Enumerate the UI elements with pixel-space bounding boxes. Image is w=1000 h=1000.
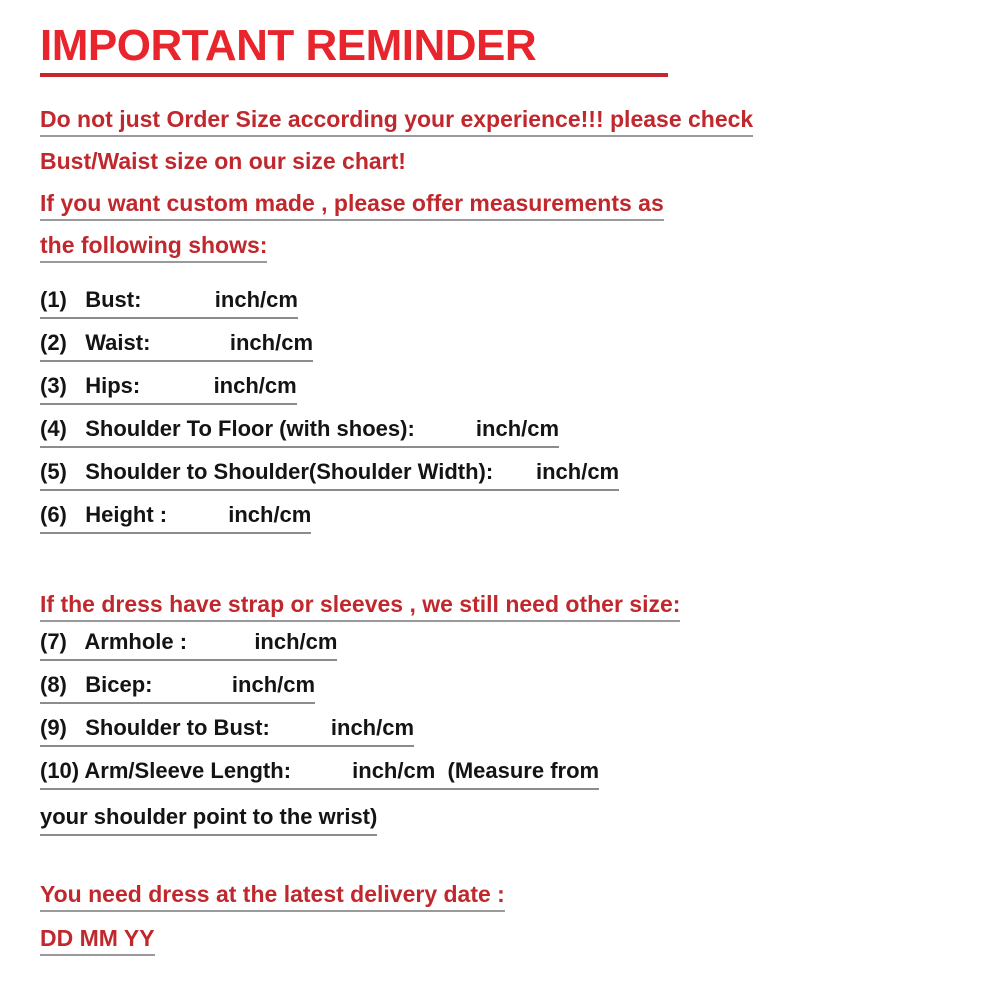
measurement-list-primary: (1) Bust: inch/cm (2) Waist: inch/cm (3)… — [40, 278, 970, 536]
measurement-item-8: (8) Bicep: inch/cm — [40, 663, 970, 706]
intro-line-3-text: If you want custom made , please offer m… — [40, 188, 664, 221]
intro-line-3: If you want custom made , please offer m… — [40, 182, 960, 224]
measurement-item-9-text: (9) Shoulder to Bust: inch/cm — [40, 713, 414, 747]
measurement-item-4-text: (4) Shoulder To Floor (with shoes): inch… — [40, 414, 559, 448]
page-title-block: IMPORTANT REMINDER — [40, 22, 940, 77]
intro-line-4: the following shows: — [40, 224, 960, 266]
measurement-item-5: (5) Shoulder to Shoulder(Shoulder Width)… — [40, 450, 970, 493]
delivery-prompt-line: You need dress at the latest delivery da… — [40, 872, 960, 916]
continuation-line: your shoulder point to the wrist) — [40, 795, 960, 838]
subhead-line: If the dress have strap or sleeves , we … — [40, 583, 960, 625]
measurement-item-1: (1) Bust: inch/cm — [40, 278, 970, 321]
measurement-item-7-text: (7) Armhole : inch/cm — [40, 627, 337, 661]
page-title: IMPORTANT REMINDER — [40, 22, 940, 70]
delivery-date-placeholder: DD MM YY — [40, 923, 155, 956]
intro-line-4-text: the following shows: — [40, 230, 267, 263]
delivery-date-block: You need dress at the latest delivery da… — [40, 872, 960, 960]
intro-line-2: Bust/Waist size on our size chart! — [40, 140, 960, 182]
reminder-document: IMPORTANT REMINDER Do not just Order Siz… — [0, 0, 1000, 1000]
continuation-text: your shoulder point to the wrist) — [40, 802, 377, 836]
measurement-list-secondary: (7) Armhole : inch/cm (8) Bicep: inch/cm… — [40, 620, 970, 792]
measurement-item-5-text: (5) Shoulder to Shoulder(Shoulder Width)… — [40, 457, 619, 491]
delivery-date-line: DD MM YY — [40, 916, 960, 960]
measurement-item-2-text: (2) Waist: inch/cm — [40, 328, 313, 362]
measurement-item-9: (9) Shoulder to Bust: inch/cm — [40, 706, 970, 749]
measurement-item-6: (6) Height : inch/cm — [40, 493, 970, 536]
intro-line-1-text: Do not just Order Size according your ex… — [40, 104, 753, 137]
measurement-item-1-text: (1) Bust: inch/cm — [40, 285, 298, 319]
measurement-item-3-text: (3) Hips: inch/cm — [40, 371, 297, 405]
subhead-text: If the dress have strap or sleeves , we … — [40, 589, 680, 622]
measurement-item-7: (7) Armhole : inch/cm — [40, 620, 970, 663]
title-underline-rule — [40, 73, 668, 77]
measurement-item-8-text: (8) Bicep: inch/cm — [40, 670, 315, 704]
measurement-item-10-text: (10) Arm/Sleeve Length: inch/cm (Measure… — [40, 756, 599, 790]
intro-line-2-text: Bust/Waist size on our size chart! — [40, 148, 406, 174]
measurement-item-2: (2) Waist: inch/cm — [40, 321, 970, 364]
intro-paragraph: Do not just Order Size according your ex… — [40, 98, 960, 266]
measurement-item-10: (10) Arm/Sleeve Length: inch/cm (Measure… — [40, 749, 970, 792]
delivery-prompt-text: You need dress at the latest delivery da… — [40, 879, 505, 912]
measurement-item-4: (4) Shoulder To Floor (with shoes): inch… — [40, 407, 970, 450]
measurement-item-3: (3) Hips: inch/cm — [40, 364, 970, 407]
intro-line-1: Do not just Order Size according your ex… — [40, 98, 960, 140]
measurement-item-10-continuation: your shoulder point to the wrist) — [40, 795, 960, 838]
measurement-item-6-text: (6) Height : inch/cm — [40, 500, 311, 534]
secondary-section-subhead: If the dress have strap or sleeves , we … — [40, 583, 960, 625]
